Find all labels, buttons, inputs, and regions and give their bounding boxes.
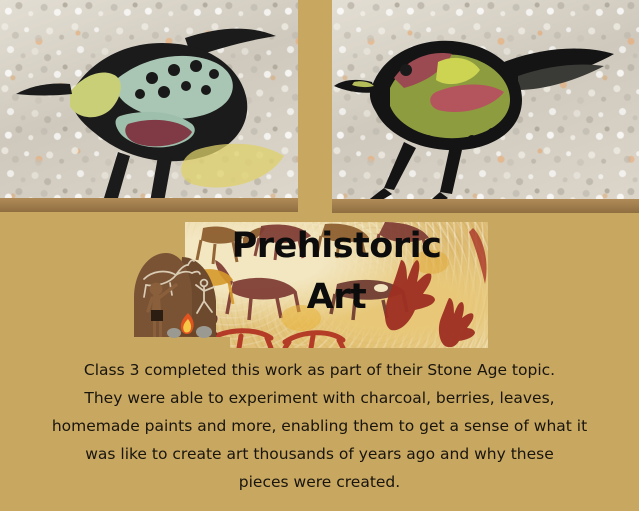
title-card: Prehistoric Art: [185, 222, 488, 348]
title-text-block: Prehistoric Art: [185, 226, 488, 318]
caption-line: They were able to experiment with charco…: [4, 384, 635, 412]
caption-line: was like to create art thousands of year…: [4, 440, 635, 468]
right-bird-painting-graphic: [332, 0, 639, 213]
wood-desk-edge: [332, 199, 639, 213]
page-title-line-2: Art: [185, 277, 488, 317]
caveman-illustration: [126, 243, 230, 348]
caveman-scene-graphic: [126, 243, 230, 348]
right-bird-artwork-photo: [332, 0, 639, 213]
left-bird-painting-graphic: [0, 0, 298, 212]
left-bird-artwork-photo: [0, 0, 298, 212]
page-title-line-1: Prehistoric: [185, 226, 488, 266]
caption-line: pieces were created.: [4, 468, 635, 496]
wood-desk-edge: [0, 198, 298, 212]
caption-line: Class 3 completed this work as part of t…: [4, 356, 635, 384]
caption-block: Class 3 completed this work as part of t…: [0, 356, 639, 496]
poster-canvas: Prehistoric Art: [0, 0, 639, 511]
caption-line: homemade paints and more, enabling them …: [4, 412, 635, 440]
